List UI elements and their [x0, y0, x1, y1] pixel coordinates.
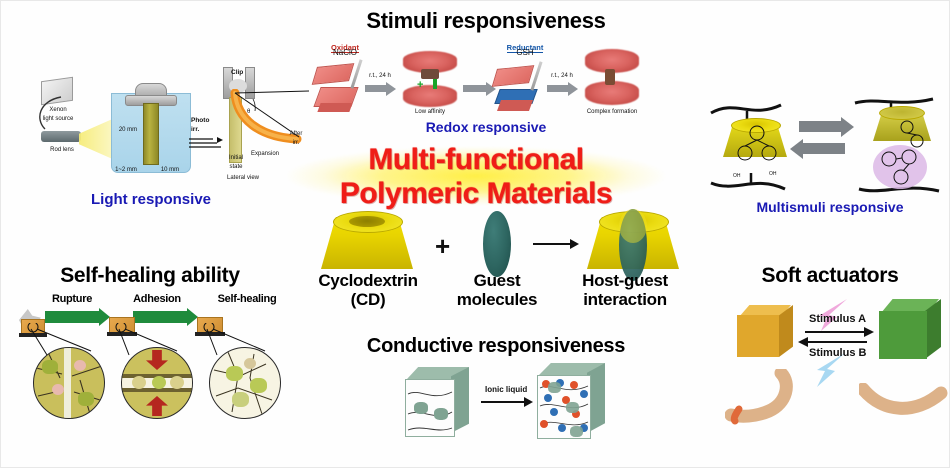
host-label-1: Cyclodextrin	[309, 271, 427, 290]
dim-height: 20 mm	[115, 127, 141, 133]
conductive-heading: Conductive responsiveness	[321, 333, 671, 359]
self-healing-art: Rupture Adhesion Self-healing	[17, 293, 289, 427]
conductive-cube-b-face	[537, 375, 591, 439]
main-title: Multi-functional Polymeric Materials	[254, 141, 698, 213]
self-healing-step-2: Self-healing	[207, 293, 287, 305]
host-label-2: (CD)	[309, 290, 427, 309]
plus-sign-hostguest: +	[435, 231, 450, 262]
condition-2: r.t., 24 h	[547, 73, 577, 79]
soft-actuators-heading: Soft actuators	[719, 263, 941, 289]
product-label-2: interaction	[565, 290, 685, 309]
dim-thickness: 1~2 mm	[111, 167, 141, 173]
cube-red-body-side	[317, 103, 352, 112]
reductant-reagent: GSH	[493, 48, 557, 57]
cube-red-side-2	[497, 100, 533, 111]
multistimuli-art: OH OH	[707, 97, 943, 197]
plus-sign-redox: +	[417, 79, 423, 91]
reaction-arrow-2	[463, 85, 487, 92]
reaction-arrow-1	[365, 85, 387, 92]
stimuli-heading: Stimuli responsiveness	[321, 7, 651, 35]
self-healing-step-1: Adhesion	[121, 293, 193, 305]
conductive-arrow	[481, 401, 525, 403]
hostguest-arrow	[533, 243, 571, 245]
arrow-reverse	[803, 143, 845, 154]
oxidant-reagent: NaClO	[315, 48, 375, 57]
actuator-cube-a-front	[737, 315, 779, 357]
clip-label: Clip	[231, 69, 243, 76]
light-responsive-art: Xenon light source Rod lens 20 mm 1~2 mm…	[15, 59, 295, 189]
lateral-view-label: Lateral view	[215, 175, 271, 181]
stimulus-b-label: Stimulus B	[809, 347, 866, 359]
product-label-1: Host-guest	[565, 271, 685, 290]
initial-state-2: state	[219, 164, 253, 170]
state-low-affinity: Low affinity	[403, 109, 457, 115]
guest-label-2: molecules	[439, 290, 555, 309]
fiber-cable-icon	[31, 95, 75, 133]
redox-caption: Redox responsive	[381, 119, 591, 135]
oh-left: OH	[733, 173, 741, 179]
condition-1: r.t., 24 h	[365, 73, 395, 79]
linker-1	[433, 79, 437, 89]
light-responsive-caption: Light responsive	[51, 191, 251, 208]
rod-lens-label: Rod lens	[35, 147, 89, 153]
conductive-art: Ionic liquid	[399, 363, 609, 459]
microstructure-healed	[209, 347, 281, 419]
multistimuli-caption: Multismuli responsive	[717, 199, 943, 215]
azobenzene-structure	[875, 147, 929, 191]
arrow-forward	[799, 121, 841, 132]
microstructure-adhesion	[121, 347, 193, 419]
gel-strip	[143, 103, 159, 165]
guest-unit-1	[421, 69, 439, 79]
guest-molecule	[483, 211, 511, 277]
complex-overlap	[619, 209, 647, 243]
stimulus-a-arrow	[805, 331, 865, 333]
actuator-cube-b-front	[879, 311, 927, 359]
relaxed-arm-icon	[859, 383, 949, 423]
self-healing-step-0: Rupture	[37, 293, 107, 305]
soft-actuators-art: Stimulus A Stimulus B	[717, 297, 943, 447]
host-guest-art: + Cyclodextrin (CD) Guest molecules Host…	[307, 209, 687, 299]
graphical-abstract: Multi-functional Polymeric Materials Sti…	[0, 0, 950, 468]
guest-label-1: Guest	[439, 271, 555, 290]
complex-linker	[605, 69, 615, 85]
reaction-arrow-3	[547, 85, 569, 92]
title-line-1: Multi-functional	[368, 143, 583, 177]
cyclodextrin-cavity	[349, 216, 385, 227]
flexed-arm-icon	[725, 369, 805, 429]
cube-red-lid	[312, 63, 355, 85]
cube-red-lid-2	[492, 65, 535, 87]
irradiation-arrows	[187, 135, 223, 149]
gel-blob-bottom-1	[403, 85, 457, 107]
title-line-2: Polymeric Materials	[340, 177, 612, 211]
photo-irr-2: irr.	[191, 126, 199, 133]
expansion-label: Expansion	[251, 151, 279, 157]
self-healing-heading: Self-healing ability	[19, 263, 281, 289]
stimulus-a-label: Stimulus A	[809, 313, 866, 325]
arrow-rupture-to-adhesion	[45, 311, 99, 323]
conductive-cube-a-face	[405, 379, 455, 437]
microstructure-rupture	[33, 347, 105, 419]
after-irr-1: After	[283, 131, 309, 137]
photo-irr-1: Photo	[191, 117, 209, 124]
arrow-adhesion-to-healing	[133, 311, 187, 323]
rod-lens-icon	[41, 131, 81, 142]
after-irr-2: irr.	[283, 140, 309, 146]
dim-width: 10 mm	[157, 167, 183, 173]
theta-label: θ	[247, 109, 250, 115]
initial-state-1: Initial	[219, 155, 253, 161]
ionic-liquid-label: Ionic liquid	[485, 385, 527, 394]
stimulus-b-arrow	[807, 341, 867, 343]
state-complex-formation: Complex formation	[577, 109, 647, 115]
oh-right: OH	[769, 171, 777, 177]
